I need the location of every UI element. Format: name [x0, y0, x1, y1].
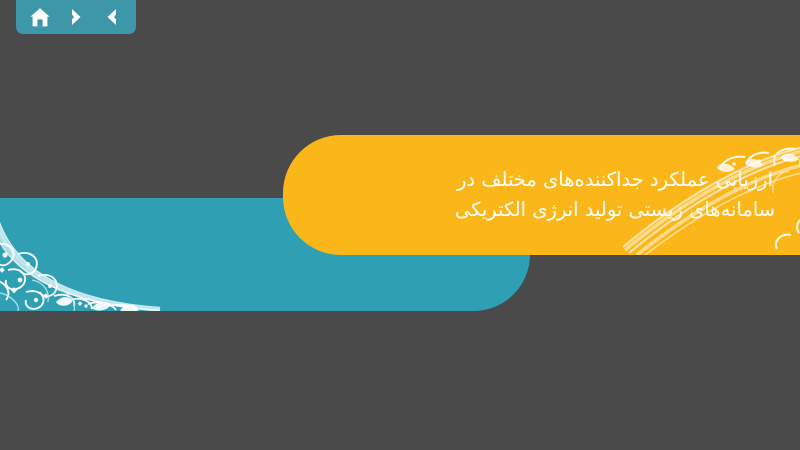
- orange-title-band: ارزیابی عملکرد جداکننده‌های مختلف در سام…: [283, 135, 800, 255]
- arabesque-corner-ornament-teal: [0, 198, 162, 311]
- triangle-right-icon: [66, 7, 86, 27]
- title-line-2: سامانه‌های زیستی تولید انرژی الکتریکی: [455, 195, 775, 225]
- previous-slide-button[interactable]: [98, 4, 126, 30]
- home-button[interactable]: [26, 4, 54, 30]
- triangle-left-icon: [102, 7, 122, 27]
- home-icon: [29, 7, 51, 28]
- title-line-1: ارزیابی عملکرد جداکننده‌های مختلف در: [457, 165, 773, 195]
- slide-navigation-bar: [16, 0, 136, 34]
- slide-title: ارزیابی عملکرد جداکننده‌های مختلف در سام…: [283, 135, 800, 255]
- presentation-slide: ارزیابی عملکرد جداکننده‌های مختلف در سام…: [0, 0, 800, 450]
- next-slide-button[interactable]: [62, 4, 90, 30]
